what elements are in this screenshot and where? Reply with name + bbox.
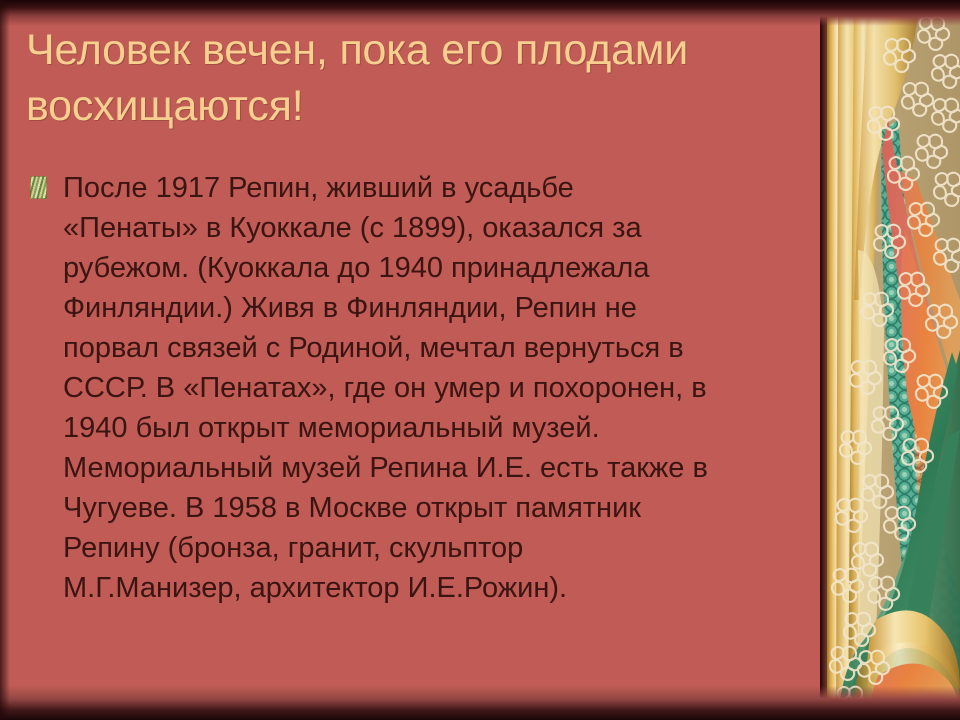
body-line: Финляндии.) Живя в Финляндии, Репин не xyxy=(63,288,802,328)
body-paragraph: После 1917 Репин, живший в усадьбе «Пена… xyxy=(63,168,802,608)
floral-ribbon-border xyxy=(820,0,960,720)
body-line: После 1917 Репин, живший в усадьбе xyxy=(63,168,802,208)
body-line: М.Г.Манизер, архитектор И.Е.Рожин). xyxy=(63,568,802,608)
body-line: 1940 был открыт мемориальный музей. xyxy=(63,408,802,448)
decorative-square-bullet-icon xyxy=(30,176,47,199)
body-line: Чугуеве. В 1958 в Москве открыт памятник xyxy=(63,488,802,528)
body-line: порвал связей с Родиной, мечтал вернутьс… xyxy=(63,328,802,368)
body-line: Репину (бронза, гранит, скульптор xyxy=(63,528,802,568)
page-title: Человек вечен, пока его плодами восхищаю… xyxy=(26,22,726,134)
presentation-slide: Человек вечен, пока его плодами восхищаю… xyxy=(0,0,960,720)
body-line: «Пенаты» в Куоккале (с 1899), оказался з… xyxy=(63,208,802,248)
slide-content-area: Человек вечен, пока его плодами восхищаю… xyxy=(0,0,820,720)
panel-left-edge-shadow xyxy=(820,0,827,720)
body-line: рубежом. (Куоккала до 1940 принадлежала xyxy=(63,248,802,288)
body-line: СССР. В «Пенатах», где он умер и похорон… xyxy=(63,368,802,408)
decorative-ribbon-artwork xyxy=(820,0,960,720)
bullet-list-item: После 1917 Репин, живший в усадьбе «Пена… xyxy=(30,168,802,608)
body-line: Мемориальный музей Репина И.Е. есть такж… xyxy=(63,448,802,488)
